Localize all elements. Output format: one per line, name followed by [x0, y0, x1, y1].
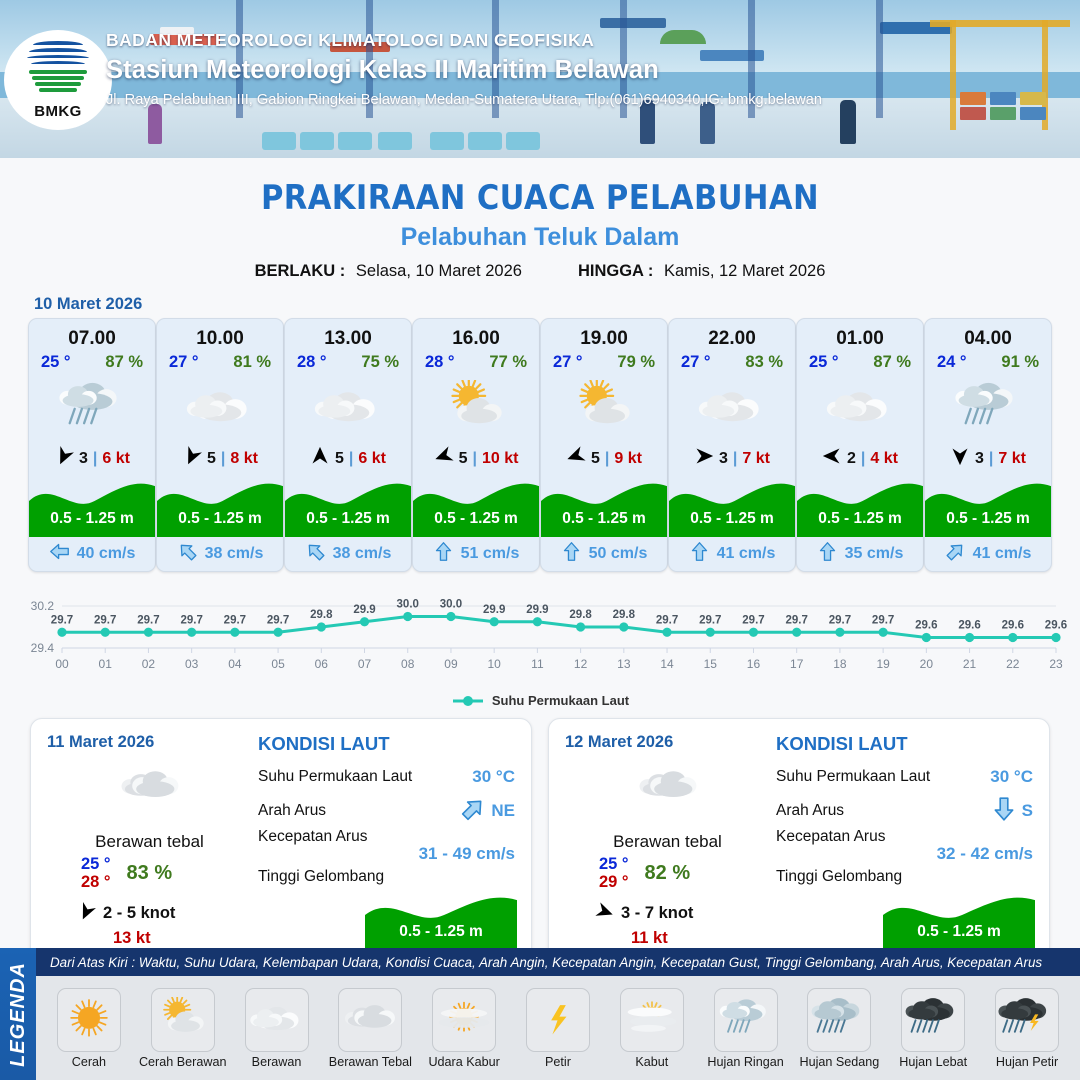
card-humidity: 77 %: [489, 353, 527, 372]
card-weather-hujan-ringan-icon: [29, 372, 155, 444]
card-wind-direction-arrow-icon: [310, 446, 330, 471]
card-wave-value: 0.5 - 1.25 m: [285, 510, 411, 528]
svg-text:12: 12: [574, 657, 588, 671]
panel-current-dir-value: S: [1022, 801, 1033, 821]
svg-text:14: 14: [660, 657, 674, 671]
card-time: 01.00: [797, 319, 923, 350]
card-wave-value: 0.5 - 1.25 m: [541, 510, 667, 528]
card-separator: |: [733, 450, 737, 468]
panel-humidity: 82 %: [645, 862, 691, 885]
svg-text:29.7: 29.7: [829, 614, 851, 626]
card-separator: |: [605, 450, 609, 468]
legend-section: LEGENDA Dari Atas Kiri : Waktu, Suhu Uda…: [0, 948, 1080, 1080]
card-separator: |: [93, 450, 97, 468]
card-wind-speed: 2: [847, 450, 856, 468]
card-wave-height: 0.5 - 1.25 m: [925, 475, 1051, 537]
panel-current-dir-label: Arah Arus: [776, 802, 844, 820]
valid-from-label: BERLAKU :: [255, 262, 346, 280]
card-separator: |: [472, 450, 476, 468]
card-wave-value: 0.5 - 1.25 m: [797, 510, 923, 528]
sst-chart: 30.229.429.70029.70129.70229.70329.70429…: [10, 584, 1070, 692]
panel-gust: 11 kt: [565, 929, 770, 948]
hourly-forecast-cards: 07.00 25 ° 87 % 3 | 6 kt 0.5 - 1.25 m: [0, 318, 1080, 572]
legend-item: Hujan Ringan: [700, 988, 792, 1069]
card-current-direction-arrow-icon: [689, 541, 710, 567]
card-weather-berawan-icon: [285, 372, 411, 444]
card-gust: 6 kt: [102, 450, 130, 468]
panel-current-speed-value: 31 - 49 cm/s: [258, 844, 515, 864]
panel-temp-max: 28 °: [81, 873, 111, 891]
card-humidity: 79 %: [617, 353, 655, 372]
panel-current-speed-value: 32 - 42 cm/s: [776, 844, 1033, 864]
svg-text:03: 03: [185, 657, 199, 671]
panel-wind-range: 2 - 5 knot: [103, 904, 175, 923]
hourly-card: 22.00 27 ° 83 % 3 | 7 kt 0.5 - 1.25 m: [668, 318, 796, 572]
station-address: Jl. Raya Pelabuhan III, Gabion Ringkai B…: [106, 92, 822, 108]
card-gust: 7 kt: [998, 450, 1026, 468]
card-humidity: 91 %: [1001, 353, 1039, 372]
svg-text:29.6: 29.6: [958, 620, 980, 632]
legend-item-label: Cerah: [72, 1055, 106, 1069]
card-wind-direction-arrow-icon: [822, 446, 842, 471]
svg-text:29.7: 29.7: [742, 614, 764, 626]
card-current-direction-arrow-icon: [817, 541, 838, 567]
panel-current-dir-value: NE: [491, 801, 515, 821]
svg-text:22: 22: [1006, 657, 1020, 671]
panel-wave-height: 0.5 - 1.25 m: [365, 889, 517, 951]
card-wave-height: 0.5 - 1.25 m: [797, 475, 923, 537]
card-wave-value: 0.5 - 1.25 m: [925, 510, 1051, 528]
legend-item-label: Hujan Lebat: [899, 1055, 967, 1069]
logo-text: BMKG: [34, 103, 81, 120]
valid-to: HINGGA : Kamis, 12 Maret 2026: [578, 262, 825, 281]
agency-name: BADAN METEOROLOGI KLIMATOLOGI DAN GEOFIS…: [106, 30, 822, 51]
card-wind-direction-arrow-icon: [434, 446, 454, 471]
card-wave-value: 0.5 - 1.25 m: [669, 510, 795, 528]
card-time: 07.00: [29, 319, 155, 350]
svg-text:29.7: 29.7: [180, 614, 202, 626]
card-current-speed: 50 cm/s: [589, 545, 648, 563]
daily-panel: 11 Maret 2026 Berawan tebal 25 ° 28 ° 83…: [30, 718, 532, 964]
panel-wind-direction-arrow-icon: [77, 902, 96, 926]
legend-item-label: Cerah Berawan: [139, 1055, 227, 1069]
svg-text:01: 01: [99, 657, 113, 671]
card-weather-berawan-icon: [797, 372, 923, 444]
card-wave-height: 0.5 - 1.25 m: [157, 475, 283, 537]
card-wind-direction-arrow-icon: [694, 446, 714, 471]
hourly-card: 10.00 27 ° 81 % 5 | 8 kt 0.5 - 1.25 m: [156, 318, 284, 572]
card-temperature: 24 °: [937, 353, 967, 372]
panel-condition: Berawan tebal: [47, 832, 252, 852]
svg-text:30.2: 30.2: [31, 599, 55, 613]
card-current-speed: 38 cm/s: [333, 545, 392, 563]
card-humidity: 81 %: [233, 353, 271, 372]
legend-hujan-petir-icon: [995, 988, 1059, 1052]
panel-sst-label: Suhu Permukaan Laut: [258, 768, 412, 786]
card-wave-value: 0.5 - 1.25 m: [29, 510, 155, 528]
svg-text:19: 19: [876, 657, 890, 671]
chart-legend-label: Suhu Permukaan Laut: [492, 693, 629, 708]
svg-text:11: 11: [531, 657, 544, 671]
panel-date: 12 Maret 2026: [565, 733, 770, 752]
svg-text:13: 13: [617, 657, 631, 671]
legend-kabut-icon: [620, 988, 684, 1052]
card-wind-speed: 5: [207, 450, 216, 468]
hourly-card: 01.00 25 ° 87 % 2 | 4 kt 0.5 - 1.25 m: [796, 318, 924, 572]
card-wind-speed: 3: [975, 450, 984, 468]
card-current-speed: 40 cm/s: [77, 545, 136, 563]
svg-text:29.7: 29.7: [94, 614, 116, 626]
legend-item: Hujan Lebat: [887, 988, 979, 1069]
chart-legend: Suhu Permukaan Laut: [0, 693, 1080, 708]
valid-from: BERLAKU : Selasa, 10 Maret 2026: [255, 262, 522, 281]
card-current-direction-arrow-icon: [305, 541, 326, 567]
card-gust: 10 kt: [482, 450, 518, 468]
legend-cerah-berawan-icon: [151, 988, 215, 1052]
svg-text:23: 23: [1049, 657, 1063, 671]
card-separator: |: [221, 450, 225, 468]
panel-condition: Berawan tebal: [565, 832, 770, 852]
legend-item-label: Kabut: [635, 1055, 668, 1069]
svg-text:29.9: 29.9: [526, 604, 548, 616]
svg-text:29.8: 29.8: [310, 609, 333, 621]
svg-text:02: 02: [142, 657, 156, 671]
card-wave-value: 0.5 - 1.25 m: [413, 510, 539, 528]
card-current-direction-arrow-icon: [561, 541, 582, 567]
svg-text:20: 20: [920, 657, 934, 671]
bmkg-logo: BMKG: [4, 30, 112, 130]
card-gust: 6 kt: [358, 450, 386, 468]
hourly-day-label: 10 Maret 2026: [34, 295, 1080, 314]
card-wind-speed: 5: [591, 450, 600, 468]
legend-item-label: Hujan Sedang: [799, 1055, 879, 1069]
card-current-speed: 35 cm/s: [845, 545, 904, 563]
panel-sst-label: Suhu Permukaan Laut: [776, 768, 930, 786]
svg-text:05: 05: [271, 657, 285, 671]
hourly-card: 16.00 28 ° 77 % 5 | 10 kt 0.5 - 1.25 m 5…: [412, 318, 540, 572]
card-humidity: 83 %: [745, 353, 783, 372]
daily-panel: 12 Maret 2026 Berawan tebal 25 ° 29 ° 82…: [548, 718, 1050, 964]
svg-text:29.7: 29.7: [699, 614, 721, 626]
panel-sst-value: 30 °C: [472, 767, 515, 787]
svg-text:16: 16: [747, 657, 761, 671]
card-time: 22.00: [669, 319, 795, 350]
station-name: Stasiun Meteorologi Kelas II Maritim Bel…: [106, 56, 822, 85]
card-current-direction-arrow-icon: [177, 541, 198, 567]
legend-berawan-tebal-icon: [338, 988, 402, 1052]
card-time: 04.00: [925, 319, 1051, 350]
svg-text:10: 10: [487, 657, 501, 671]
card-weather-hujan-ringan-icon: [925, 372, 1051, 444]
card-wind-direction-arrow-icon: [54, 446, 74, 471]
card-gust: 8 kt: [230, 450, 258, 468]
legend-item-label: Berawan: [252, 1055, 302, 1069]
svg-text:15: 15: [704, 657, 718, 671]
logo-arcs-icon: [27, 41, 89, 67]
card-temperature: 27 °: [169, 353, 199, 372]
card-wind-speed: 3: [719, 450, 728, 468]
card-current-direction-arrow-icon: [49, 541, 70, 567]
card-humidity: 87 %: [105, 353, 143, 372]
panel-wave-value: 0.5 - 1.25 m: [883, 923, 1035, 941]
svg-text:29.4: 29.4: [31, 641, 55, 655]
svg-text:29.9: 29.9: [353, 604, 375, 616]
svg-text:29.6: 29.6: [1045, 620, 1067, 632]
panel-temp-max: 29 °: [599, 873, 629, 891]
chart-legend-marker-icon: [451, 695, 485, 707]
svg-text:18: 18: [833, 657, 847, 671]
card-current-direction-arrow-icon: [433, 541, 454, 567]
svg-text:04: 04: [228, 657, 242, 671]
card-wave-height: 0.5 - 1.25 m: [413, 475, 539, 537]
card-time: 19.00: [541, 319, 667, 350]
panel-wind-direction-arrow-icon: [595, 902, 614, 926]
svg-text:29.9: 29.9: [483, 604, 505, 616]
card-wave-height: 0.5 - 1.25 m: [285, 475, 411, 537]
page-title: PRAKIRAAN CUACA PELABUHAN: [0, 178, 1080, 218]
legend-hujan-lebat-icon: [901, 988, 965, 1052]
legend-item: Petir: [512, 988, 604, 1069]
card-wind-speed: 5: [335, 450, 344, 468]
card-separator: |: [349, 450, 353, 468]
panel-weather-berawan-tebal-icon: [565, 758, 770, 818]
svg-text:00: 00: [55, 657, 69, 671]
legend-item-label: Udara Kabur: [428, 1055, 499, 1069]
svg-text:29.6: 29.6: [1002, 620, 1024, 632]
svg-text:29.7: 29.7: [51, 614, 73, 626]
card-temperature: 25 °: [809, 353, 839, 372]
card-current-speed: 38 cm/s: [205, 545, 264, 563]
valid-from-value: Selasa, 10 Maret 2026: [356, 262, 522, 280]
panel-sea-title: KONDISI LAUT: [258, 733, 515, 755]
hourly-card: 07.00 25 ° 87 % 3 | 6 kt 0.5 - 1.25 m: [28, 318, 156, 572]
svg-text:29.7: 29.7: [137, 614, 159, 626]
panel-current-direction-arrow-icon: [460, 796, 486, 827]
panel-wave-value: 0.5 - 1.25 m: [365, 923, 517, 941]
panel-current-dir-label: Arah Arus: [258, 802, 326, 820]
card-current-speed: 41 cm/s: [717, 545, 776, 563]
svg-text:29.7: 29.7: [224, 614, 246, 626]
svg-text:29.8: 29.8: [613, 609, 636, 621]
page-header: BMKG BADAN METEOROLOGI KLIMATOLOGI DAN G…: [0, 0, 1080, 158]
legend-items: Cerah Cerah Berawan Berawan Berawan Teba…: [36, 976, 1080, 1080]
legend-item: Udara Kabur: [418, 988, 510, 1069]
card-temperature: 25 °: [41, 353, 71, 372]
card-wind-speed: 5: [459, 450, 468, 468]
card-humidity: 75 %: [361, 353, 399, 372]
hourly-card: 19.00 27 ° 79 % 5 | 9 kt 0.5 - 1.25 m 50…: [540, 318, 668, 572]
panel-current-direction-arrow-icon: [991, 796, 1017, 827]
svg-text:08: 08: [401, 657, 415, 671]
card-gust: 9 kt: [614, 450, 642, 468]
panel-wind-range: 3 - 7 knot: [621, 904, 693, 923]
legend-item: Berawan: [231, 988, 323, 1069]
svg-text:21: 21: [963, 657, 977, 671]
panel-wave-label: Tinggi Gelombang: [776, 868, 902, 886]
legend-note: Dari Atas Kiri : Waktu, Suhu Udara, Kele…: [36, 948, 1080, 976]
daily-forecast-panels: 11 Maret 2026 Berawan tebal 25 ° 28 ° 83…: [0, 708, 1080, 964]
card-wind-speed: 3: [79, 450, 88, 468]
svg-text:29.7: 29.7: [872, 614, 894, 626]
card-weather-berawan-icon: [669, 372, 795, 444]
svg-text:09: 09: [444, 657, 458, 671]
legend-item-label: Berawan Tebal: [329, 1055, 412, 1069]
panel-wave-label: Tinggi Gelombang: [258, 868, 384, 886]
legend-item: Berawan Tebal: [324, 988, 416, 1069]
card-humidity: 87 %: [873, 353, 911, 372]
card-wind-direction-arrow-icon: [950, 446, 970, 471]
legend-hujan-ringan-icon: [714, 988, 778, 1052]
svg-text:17: 17: [790, 657, 804, 671]
card-wind-direction-arrow-icon: [566, 446, 586, 471]
svg-text:30.0: 30.0: [397, 599, 419, 611]
card-current-direction-arrow-icon: [945, 541, 966, 567]
card-weather-cerah-berawan-icon: [413, 372, 539, 444]
card-current-speed: 41 cm/s: [973, 545, 1032, 563]
legend-item: Cerah: [43, 988, 135, 1069]
panel-gust: 13 kt: [47, 929, 252, 948]
hourly-card: 04.00 24 ° 91 % 3 | 7 kt 0.5 - 1.25 m: [924, 318, 1052, 572]
legend-side-label: LEGENDA: [0, 948, 36, 1080]
legend-udara-kabur-icon: [432, 988, 496, 1052]
hourly-card: 13.00 28 ° 75 % 5 | 6 kt 0.5 - 1.25 m: [284, 318, 412, 572]
panel-sst-value: 30 °C: [990, 767, 1033, 787]
validity-row: BERLAKU : Selasa, 10 Maret 2026 HINGGA :…: [0, 262, 1080, 281]
panel-wave-height: 0.5 - 1.25 m: [883, 889, 1035, 951]
card-weather-berawan-icon: [157, 372, 283, 444]
card-weather-cerah-berawan-icon: [541, 372, 667, 444]
card-gust: 7 kt: [742, 450, 770, 468]
panel-humidity: 83 %: [127, 862, 173, 885]
card-temperature: 27 °: [681, 353, 711, 372]
svg-text:29.8: 29.8: [569, 609, 592, 621]
legend-cerah-icon: [57, 988, 121, 1052]
svg-text:07: 07: [358, 657, 372, 671]
svg-text:29.7: 29.7: [656, 614, 678, 626]
panel-weather-berawan-tebal-icon: [47, 758, 252, 818]
card-temperature: 28 °: [297, 353, 327, 372]
card-temperature: 28 °: [425, 353, 455, 372]
card-gust: 4 kt: [870, 450, 898, 468]
svg-text:29.7: 29.7: [267, 614, 289, 626]
legend-petir-icon: [526, 988, 590, 1052]
panel-temp-min: 25 °: [599, 855, 629, 873]
card-wave-height: 0.5 - 1.25 m: [29, 475, 155, 537]
legend-item-label: Petir: [545, 1055, 571, 1069]
legend-item: Cerah Berawan: [137, 988, 229, 1069]
legend-item: Hujan Petir: [981, 988, 1073, 1069]
legend-item-label: Hujan Ringan: [707, 1055, 783, 1069]
card-wind-direction-arrow-icon: [182, 446, 202, 471]
legend-item: Kabut: [606, 988, 698, 1069]
svg-text:30.0: 30.0: [440, 599, 462, 611]
card-temperature: 27 °: [553, 353, 583, 372]
legend-hujan-sedang-icon: [807, 988, 871, 1052]
card-time: 13.00: [285, 319, 411, 350]
card-current-speed: 51 cm/s: [461, 545, 520, 563]
panel-sea-title: KONDISI LAUT: [776, 733, 1033, 755]
valid-to-label: HINGGA :: [578, 262, 653, 280]
page-subtitle: Pelabuhan Teluk Dalam: [0, 223, 1080, 252]
card-wave-height: 0.5 - 1.25 m: [669, 475, 795, 537]
panel-temp-min: 25 °: [81, 855, 111, 873]
card-separator: |: [989, 450, 993, 468]
logo-waves-icon: [29, 70, 87, 100]
panel-date: 11 Maret 2026: [47, 733, 252, 752]
svg-text:06: 06: [315, 657, 329, 671]
legend-berawan-icon: [245, 988, 309, 1052]
card-time: 16.00: [413, 319, 539, 350]
svg-text:29.7: 29.7: [786, 614, 808, 626]
card-separator: |: [861, 450, 865, 468]
card-time: 10.00: [157, 319, 283, 350]
valid-to-value: Kamis, 12 Maret 2026: [664, 262, 825, 280]
svg-text:29.6: 29.6: [915, 620, 937, 632]
card-wave-value: 0.5 - 1.25 m: [157, 510, 283, 528]
card-wave-height: 0.5 - 1.25 m: [541, 475, 667, 537]
legend-item: Hujan Sedang: [793, 988, 885, 1069]
legend-item-label: Hujan Petir: [996, 1055, 1058, 1069]
